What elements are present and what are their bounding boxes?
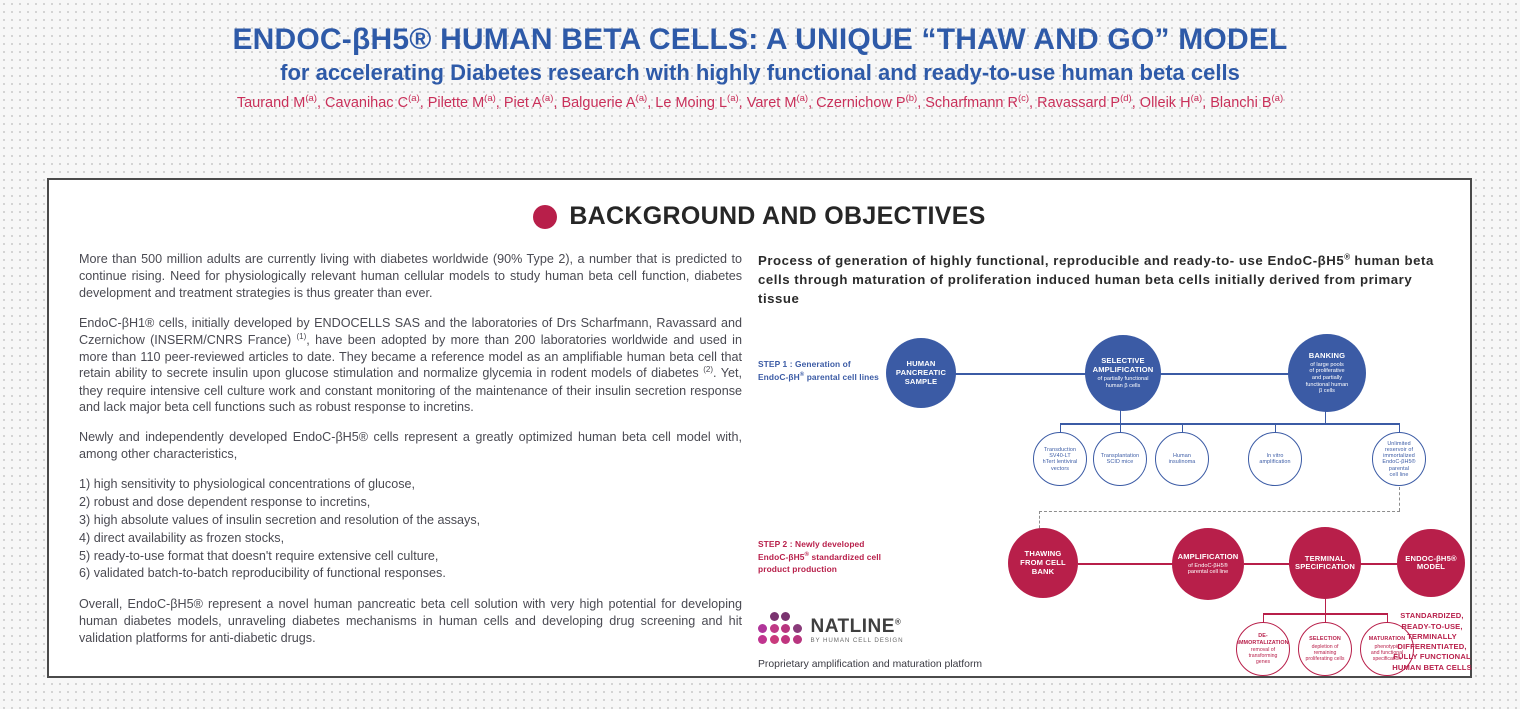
connector-line	[1325, 598, 1326, 614]
paragraph-endoc-bh5: Newly and independently developed EndoC-…	[79, 429, 742, 463]
author-8: Czernichow P	[816, 94, 905, 110]
step-2-label-line-2: EndoC-βH5® standardized cell	[758, 551, 918, 564]
connector-line	[1078, 563, 1177, 564]
outcome-description: STANDARDIZED,READY-TO-USE,TERMINALLYDIFF…	[1373, 611, 1491, 673]
connector-line	[1244, 563, 1291, 564]
node-human-insulinoma[interactable]: Humaninsulinoma	[1155, 432, 1209, 486]
node-transplantation-scid-mice[interactable]: TransplantationSCID mice	[1093, 432, 1147, 486]
poster-root: ENDOC-βH5® HUMAN BETA CELLS: A UNIQUE “T…	[0, 0, 1520, 709]
registered-mark: ®	[895, 618, 901, 627]
author-4-affiliation: (a)	[542, 93, 554, 104]
node-title: ENDOC-βH5®MODEL	[1405, 555, 1456, 573]
paragraph-endoc-bh1: EndoC-βH1® cells, initially developed by…	[79, 315, 742, 417]
natline-byline: BY HUMAN CELL DESIGN	[811, 638, 904, 644]
node-subtitle: of partially functionalhuman β cells	[1098, 376, 1149, 389]
diagram-heading-line-1: Process of generation of highly function…	[758, 253, 1235, 268]
author-list: Taurand M(a), Cavanihac C(a), Pilette M(…	[0, 94, 1520, 112]
node-endoc-bh5-model[interactable]: ENDOC-βH5®MODEL	[1397, 529, 1465, 597]
node-selection[interactable]: SELECTION depletion ofremainingprolifera…	[1298, 622, 1352, 676]
list-item: 2) robust and dose dependent response to…	[79, 494, 742, 512]
dashed-connector	[1399, 487, 1400, 511]
paragraph-intro: More than 500 million adults are current…	[79, 251, 742, 302]
author-11-affiliation: (a)	[1191, 93, 1203, 104]
panel-columns: More than 500 million adults are current…	[49, 251, 1470, 674]
node-in-vitro-amplification[interactable]: In vitroamplification	[1248, 432, 1302, 486]
node-title: HUMANPANCREATICSAMPLE	[896, 360, 946, 386]
step-2-label-line-3: product production	[758, 564, 918, 576]
process-flow-diagram: STEP 1 : Generation of EndoC-βH® parenta…	[758, 324, 1448, 674]
natline-word-text: NATLINE	[811, 616, 895, 637]
right-diagram-column: Process of generation of highly function…	[742, 251, 1448, 674]
bullet-dot-icon	[533, 205, 557, 229]
author-5: Balguerie A	[561, 94, 635, 110]
node-de-immortalization[interactable]: DE-IMMORTALIZATION removal oftransformin…	[1236, 622, 1290, 676]
node-human-pancreatic-sample[interactable]: HUMANPANCREATICSAMPLE	[886, 338, 956, 408]
author-12: Blanchi B	[1210, 94, 1271, 110]
author-2-affiliation: (a)	[408, 93, 420, 104]
node-thawing-from-cell-bank[interactable]: THAWINGFROM CELLBANK	[1008, 528, 1078, 598]
list-item: 1) high sensitivity to physiological con…	[79, 476, 742, 494]
node-title: DE-IMMORTALIZATION	[1237, 633, 1288, 646]
author-1: Taurand M	[237, 94, 306, 110]
section-header: BACKGROUND AND OBJECTIVES	[49, 202, 1470, 231]
list-item: 4) direct availability as frozen stocks,	[79, 530, 742, 548]
node-title: SELECTION	[1309, 636, 1341, 642]
characteristics-list: 1) high sensitivity to physiological con…	[79, 476, 742, 583]
connector-line	[1153, 373, 1293, 374]
author-4: Piet A	[504, 94, 542, 110]
step-2-label: STEP 2 : Newly developed EndoC-βH5® stan…	[758, 539, 918, 576]
paragraph-overall: Overall, EndoC-βH5® represent a novel hu…	[79, 596, 742, 647]
left-text-column: More than 500 million adults are current…	[71, 251, 742, 674]
author-11: Olleik H	[1140, 94, 1191, 110]
author-5-affiliation: (a)	[636, 93, 648, 104]
author-2: Cavanihac C	[325, 94, 408, 110]
connector-line	[1359, 563, 1400, 564]
author-9-affiliation: (c)	[1018, 93, 1029, 104]
author-7-affiliation: (a)	[796, 93, 808, 104]
connector-line	[955, 373, 1089, 374]
node-title: SELECTIVEAMPLIFICATION	[1093, 357, 1154, 375]
platform-caption: Proprietary amplification and maturation…	[758, 659, 982, 670]
natline-logo: NATLINE® BY HUMAN CELL DESIGN	[758, 612, 903, 644]
node-title: Unlimitedreservoir ofimmortalizedEndoC-β…	[1382, 441, 1415, 479]
node-title: TERMINALSPECIFICATION	[1295, 555, 1355, 573]
step-2-label-line-2b: standardized cell	[809, 552, 881, 562]
connector-line	[1060, 423, 1275, 424]
natline-dots-icon	[758, 612, 802, 644]
node-unlimited-reservoir[interactable]: Unlimitedreservoir ofimmortalizedEndoC-β…	[1372, 432, 1426, 486]
list-item: 3) high absolute values of insulin secre…	[79, 512, 742, 530]
node-subtitle: removal oftransforminggenes	[1249, 647, 1278, 666]
author-10: Ravassard P	[1037, 94, 1120, 110]
node-terminal-specification[interactable]: TERMINALSPECIFICATION	[1289, 527, 1361, 599]
node-title: BANKING	[1309, 352, 1346, 361]
diagram-heading-line-2a: use EndoC-βH5	[1239, 253, 1344, 268]
author-6: Le Moing L	[655, 94, 727, 110]
node-title: TransplantationSCID mice	[1101, 453, 1139, 466]
node-subtitle: of large poolsof proliferativeand partia…	[1306, 362, 1349, 396]
diagram-heading: Process of generation of highly function…	[758, 251, 1448, 308]
node-title: THAWINGFROM CELLBANK	[1020, 550, 1066, 576]
author-12-affiliation: (a)	[1272, 93, 1284, 104]
list-item: 5) ready-to-use format that doesn't requ…	[79, 548, 742, 566]
poster-header: ENDOC-βH5® HUMAN BETA CELLS: A UNIQUE “T…	[0, 0, 1520, 111]
section-title: BACKGROUND AND OBJECTIVES	[569, 202, 985, 231]
author-10-affiliation: (d)	[1120, 93, 1132, 104]
background-objectives-panel: BACKGROUND AND OBJECTIVES More than 500 …	[47, 178, 1472, 678]
author-3-affiliation: (a)	[484, 93, 496, 104]
citation-ref-2: (2)	[703, 365, 713, 374]
node-transduction[interactable]: TransductionSV40-LThTert lentiviralvecto…	[1033, 432, 1087, 486]
step-2-label-line-2a: EndoC-βH5	[758, 552, 805, 562]
author-1-affiliation: (a)	[305, 93, 317, 104]
natline-name: NATLINE®	[811, 617, 904, 636]
node-subtitle: of EndoC-βH5®parental cell line	[1188, 563, 1228, 576]
author-8-affiliation: (b)	[906, 93, 918, 104]
node-title: AMPLIFICATION	[1178, 553, 1239, 562]
page-title: ENDOC-βH5® HUMAN BETA CELLS: A UNIQUE “T…	[0, 24, 1520, 56]
step-2-label-line-1: STEP 2 : Newly developed	[758, 539, 918, 551]
node-banking[interactable]: BANKING of large poolsof proliferativean…	[1288, 334, 1366, 412]
connector-line	[1275, 423, 1399, 424]
author-7: Varet M	[747, 94, 797, 110]
node-selective-amplification[interactable]: SELECTIVEAMPLIFICATION of partially func…	[1085, 335, 1161, 411]
author-6-affiliation: (a)	[727, 93, 739, 104]
author-3: Pilette M	[428, 94, 484, 110]
author-9: Scharfmann R	[925, 94, 1018, 110]
node-title: TransductionSV40-LThTert lentiviralvecto…	[1043, 447, 1078, 472]
dashed-connector	[1039, 511, 1400, 512]
natline-wordmark: NATLINE® BY HUMAN CELL DESIGN	[811, 617, 904, 644]
citation-ref-1: (1)	[297, 332, 307, 341]
node-amplification[interactable]: AMPLIFICATION of EndoC-βH5®parental cell…	[1172, 528, 1244, 600]
step-1-label-line-2b: parental cell lines	[804, 372, 879, 382]
list-item: 6) validated batch-to-batch reproducibil…	[79, 565, 742, 583]
node-title: Humaninsulinoma	[1169, 453, 1196, 466]
step-1-label-line-2a: EndoC-βH	[758, 372, 800, 382]
page-subtitle: for accelerating Diabetes research with …	[0, 61, 1520, 85]
node-title: In vitroamplification	[1259, 453, 1290, 466]
node-subtitle: depletion ofremainingproliferating cells	[1306, 644, 1345, 663]
